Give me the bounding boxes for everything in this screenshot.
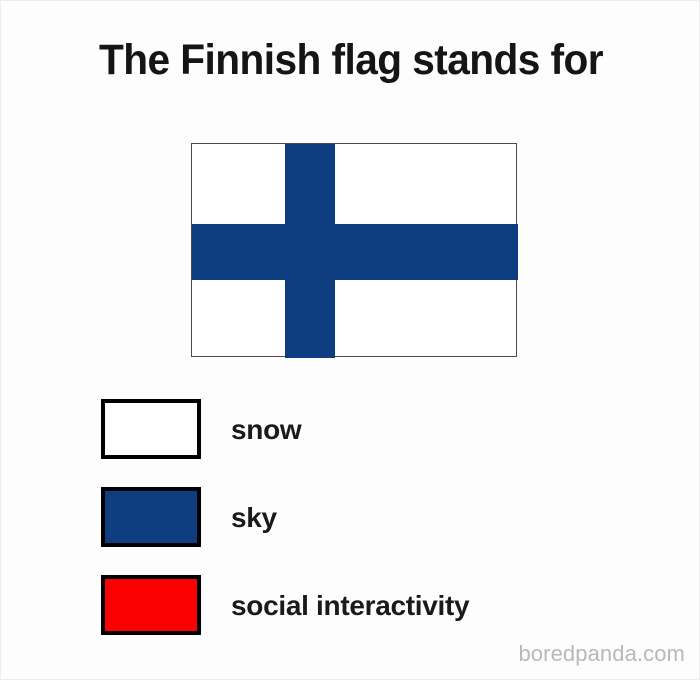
source-watermark: boredpanda.com — [518, 641, 685, 667]
legend-swatch-blue — [101, 487, 201, 547]
meme-image: The Finnish flag stands for bored panda … — [0, 0, 700, 680]
list-item: sky — [101, 487, 661, 547]
flag-cross-horizontal-bar — [192, 224, 518, 280]
legend-swatch-red — [101, 575, 201, 635]
legend-swatch-white — [101, 399, 201, 459]
legend: snow sky social interactivity — [101, 399, 661, 663]
legend-label-snow: snow — [231, 399, 301, 459]
legend-label-sky: sky — [231, 487, 277, 547]
finnish-flag — [191, 143, 517, 357]
legend-label-social-interactivity: social interactivity — [231, 575, 469, 635]
flag-watermark-text: bored panda — [389, 120, 529, 136]
page-title: The Finnish flag stands for — [20, 34, 682, 86]
list-item: snow — [101, 399, 661, 459]
list-item: social interactivity — [101, 575, 661, 635]
